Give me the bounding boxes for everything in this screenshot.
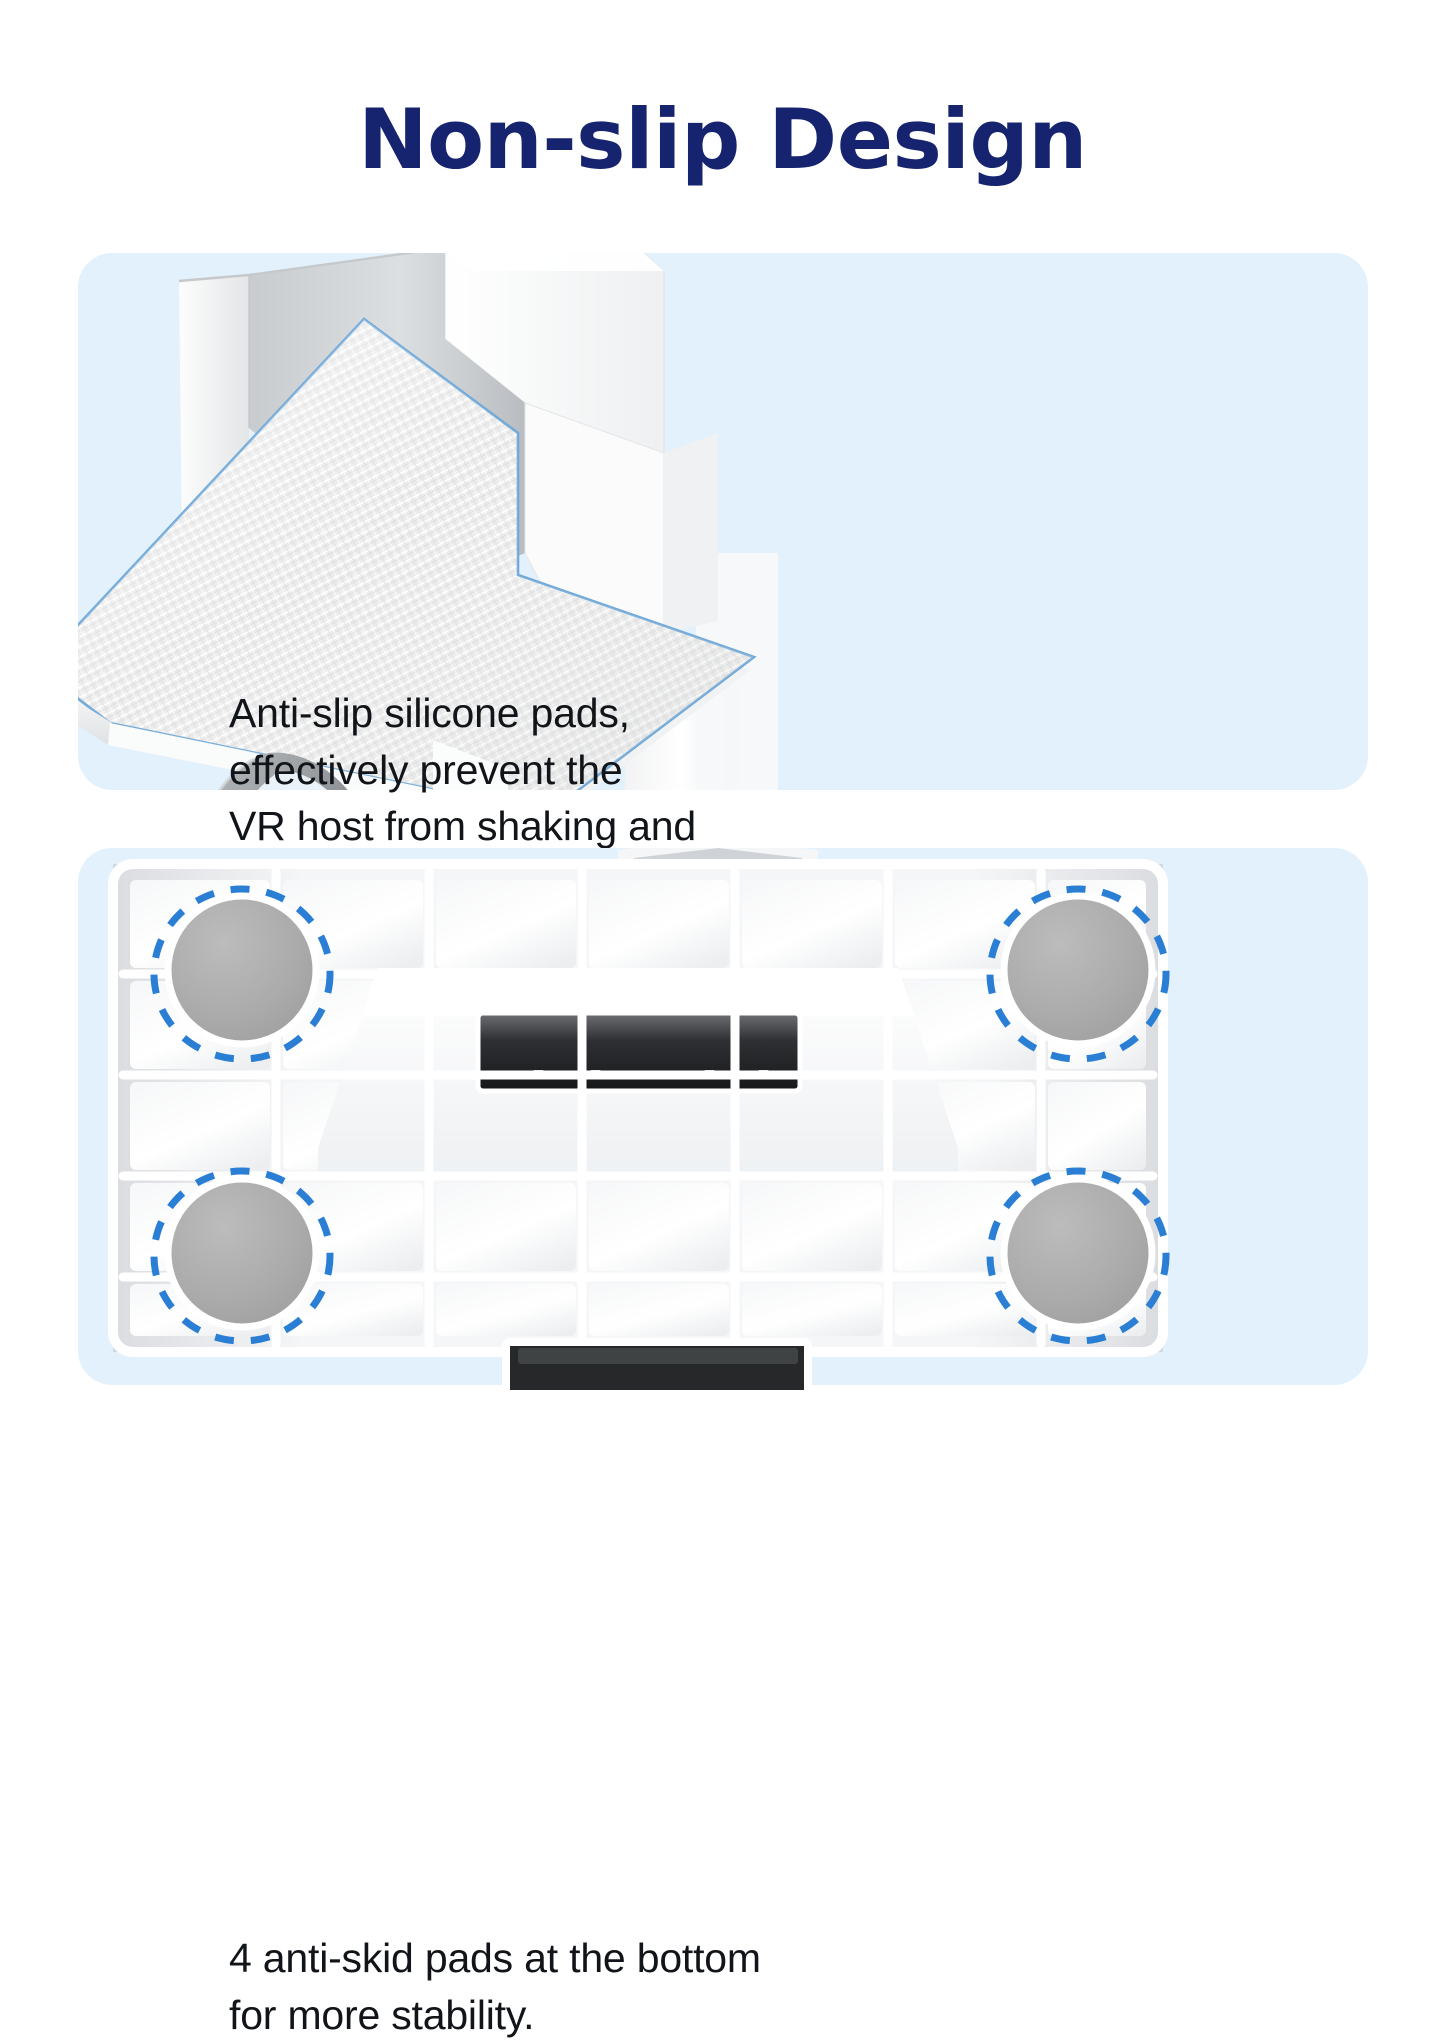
cable-slot [478,1013,800,1091]
infographic-page: Non-slip Design [0,0,1445,1445]
page-title: Non-slip Design [0,98,1445,181]
pad-highlight-dashed-circle-top-right [990,889,1166,1059]
base-top-nub [618,848,818,864]
pad-highlight-dashed-circle-top-left [154,889,330,1059]
pad-highlight-dashed-circle-bottom-right [990,1171,1166,1341]
base-rib-grid [130,880,1146,1336]
base-bottom-slot [502,1340,812,1410]
panel-anti-skid-pads: 4 anti-skid pads at the bottom for more … [78,848,1368,1385]
anti-skid-pad-bottom-right [990,1171,1166,1341]
stand-column-upper [408,253,778,373]
anti-skid-pad-bottom-left [154,1171,330,1341]
panel-2-clip [78,848,1368,1385]
base-underside-illustration [78,848,1368,1385]
base-rib-lines [123,872,1153,1344]
panel-2-caption: 4 anti-skid pads at the bottom for more … [229,1930,829,2043]
anti-skid-pad-top-right [990,889,1166,1059]
panel-silicone-pad: Anti-slip silicone pads, effectively pre… [78,253,1368,790]
stand-post [179,253,718,673]
base-center-hub [318,968,958,1178]
pad-highlight-dashed-circle-bottom-left [154,1171,330,1341]
anti-skid-pad-top-left [154,889,330,1059]
base-plate [113,864,1163,1352]
